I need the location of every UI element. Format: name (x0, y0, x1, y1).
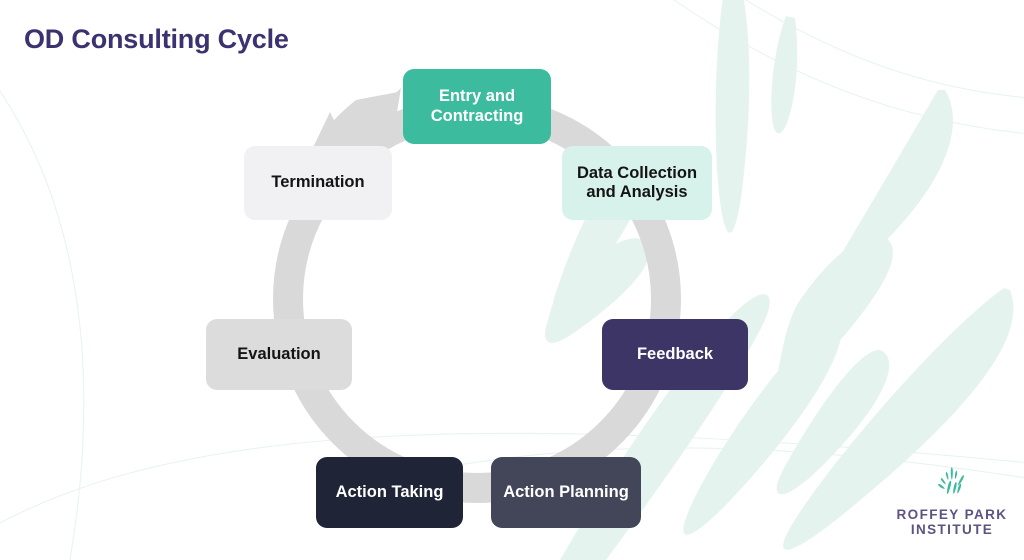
cycle-node-action-taking[interactable]: Action Taking (316, 457, 463, 528)
cycle-node-feedback[interactable]: Feedback (602, 319, 748, 390)
cycle-node-evaluation[interactable]: Evaluation (206, 319, 352, 390)
cycle-node-label: Action Planning (503, 483, 629, 502)
cycle-node-data-collection-and-analysis[interactable]: Data Collection and Analysis (562, 146, 712, 220)
cycle-node-label: Feedback (637, 345, 713, 364)
cycle-node-label-line2: Contracting (431, 107, 524, 126)
cycle-node-label: Termination (271, 173, 364, 192)
cycle-diagram: Entry and Contracting Data Collection an… (0, 0, 1024, 560)
cycle-node-entry-and-contracting[interactable]: Entry and Contracting (403, 69, 551, 144)
cycle-node-label-line1: Entry and (431, 87, 524, 106)
cycle-node-label-line2: and Analysis (577, 183, 697, 202)
logo-line1: ROFFEY PARK (897, 507, 1008, 522)
cycle-node-termination[interactable]: Termination (244, 146, 392, 220)
cycle-node-label-line1: Data Collection (577, 164, 697, 183)
cycle-node-label: Evaluation (237, 345, 320, 364)
roffey-park-leaf-mark-icon (929, 466, 975, 504)
slide-canvas: OD Consulting Cycle Entry and Contractin… (0, 0, 1024, 560)
roffey-park-logo: ROFFEY PARK INSTITUTE (893, 466, 1011, 544)
logo-line2: INSTITUTE (897, 522, 1008, 537)
cycle-node-label: Action Taking (336, 483, 444, 502)
cycle-node-action-planning[interactable]: Action Planning (491, 457, 641, 528)
roffey-park-wordmark: ROFFEY PARK INSTITUTE (897, 507, 1008, 537)
